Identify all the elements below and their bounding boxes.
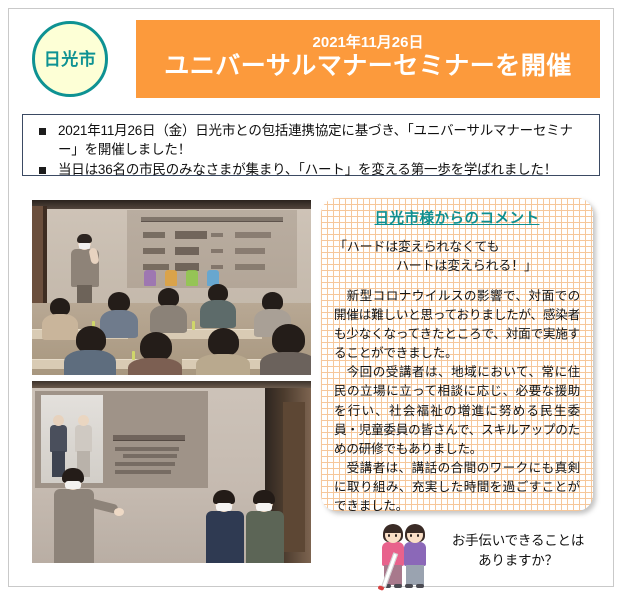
stat-unit <box>211 249 223 253</box>
head <box>78 415 89 426</box>
assistance-caption-line-2: ありますか？ <box>443 551 593 571</box>
face-mask-icon <box>216 503 232 511</box>
stat-unit <box>211 265 223 269</box>
audience-member <box>128 358 182 375</box>
audience-member <box>196 354 250 375</box>
elderly-pictogram-icon <box>165 270 177 286</box>
water-bottle <box>192 321 195 330</box>
ceiling-band <box>32 200 311 209</box>
stat-label <box>143 232 165 238</box>
hair-fringe <box>406 525 424 533</box>
comment-quote-line-1: 「ハードは変えられなくても <box>334 239 499 254</box>
attendee-hair <box>213 490 235 504</box>
assistance-illustration <box>380 518 438 588</box>
eye <box>410 534 412 537</box>
summary-bullet-text: 2021年11月26日（金）日光市との包括連携協定に基づき、「ユニバーサルマナー… <box>58 122 589 159</box>
face-mask-icon <box>65 481 81 489</box>
audience-member <box>200 300 236 328</box>
audience-member <box>100 310 138 338</box>
slide-point-line <box>123 454 177 458</box>
stat-unit <box>211 233 223 237</box>
figure-helper <box>402 524 428 588</box>
stat-value <box>175 247 199 255</box>
comment-paragraph: 受講者は、講話の合間のワークにも真剣に取り組み、充実した時間を過ごすことができま… <box>334 459 580 511</box>
audience-member <box>260 352 311 375</box>
eye <box>388 534 390 537</box>
shoe <box>416 584 424 588</box>
comment-body: 新型コロナウイルスの影響で、対面での開催は難しいと思っておりましたが、感染者も少… <box>334 287 580 511</box>
audience-member <box>42 314 78 340</box>
comment-paragraph: 今回の受講者は、地域において、常に住民の立場に立って相談に応じ、必要な援助を行い… <box>334 363 580 459</box>
face-mask-icon <box>256 503 272 511</box>
comment-paragraph: 新型コロナウイルスの影響で、対面での開催は難しいと思っておりましたが、感染者も少… <box>334 287 580 364</box>
audience-member <box>76 326 106 353</box>
presenter-figure <box>70 236 100 308</box>
slide-person-guide <box>49 415 68 477</box>
assistance-caption-line-1: お手伝いできることは <box>443 531 593 551</box>
document-page: 日光市 2021年11月26日 ユニバーサルマナーセミナーを開催 2021年11… <box>0 0 622 595</box>
event-date: 2021年11月26日 <box>313 35 424 52</box>
speaker-hand <box>114 508 124 516</box>
audience-member <box>64 350 116 375</box>
slide-point-line <box>115 462 175 466</box>
slide-point-line <box>115 470 171 474</box>
audience-member <box>208 328 239 356</box>
eye <box>395 534 397 537</box>
attendee-figure <box>244 493 286 563</box>
torso <box>75 425 92 452</box>
list-item: 2021年11月26日（金）日光市との包括連携協定に基づき、「ユニバーサルマナー… <box>33 122 589 159</box>
cane-tip <box>377 585 384 591</box>
summary-box: 2021年11月26日（金）日光市との包括連携協定に基づき、「ユニバーサルマナー… <box>22 114 600 176</box>
audience-member <box>150 305 187 333</box>
title-bar: 2021年11月26日 ユニバーサルマナーセミナーを開催 <box>136 20 600 98</box>
torso <box>50 425 67 452</box>
comment-quote: 「ハードは変えられなくても ハートは変えられる！」 <box>334 238 580 276</box>
comment-panel-title: 日光市様からのコメント <box>334 207 580 228</box>
eye <box>417 534 419 537</box>
hair-fringe <box>384 525 402 533</box>
page-title: ユニバーサルマナーセミナーを開催 <box>164 52 572 81</box>
torso <box>404 542 426 566</box>
head <box>53 415 64 426</box>
list-item: 当日は36名の市民のみなさまが集まり、「ハート」を変える第一歩を学ばれました！ <box>33 161 589 180</box>
city-badge: 日光市 <box>32 21 108 97</box>
trousers <box>406 565 424 585</box>
audience-member <box>140 332 172 361</box>
shoe <box>405 584 413 588</box>
comment-panel: 日光市様からのコメント 「ハードは変えられなくても ハートは変えられる！」 新型… <box>321 198 593 511</box>
stat-share <box>235 264 265 270</box>
audience-member <box>272 324 305 354</box>
stat-label <box>143 248 165 254</box>
comment-quote-line-2: ハートは変えられる！」 <box>334 257 580 276</box>
assistance-caption: お手伝いできることは ありますか？ <box>443 531 593 572</box>
wheelchair-pictogram-icon <box>144 270 156 286</box>
attendee-figure <box>204 493 246 563</box>
city-badge-label: 日光市 <box>44 51 97 68</box>
square-bullet-icon <box>39 167 46 174</box>
speaker-figure <box>50 471 102 563</box>
ceiling-band <box>32 381 311 388</box>
water-bottle <box>132 351 135 360</box>
slide-point-line <box>115 447 179 451</box>
attendee-body <box>246 511 284 563</box>
page-header: 日光市 2021年11月26日 ユニバーサルマナーセミナーを開催 <box>18 16 606 100</box>
summary-bullet-text: 当日は36名の市民のみなさまが集まり、「ハート」を変える第一歩を学ばれました！ <box>58 161 589 180</box>
photo-presenter-demo <box>32 381 311 563</box>
presenter-hair <box>77 234 92 243</box>
stat-value <box>175 231 207 239</box>
photo-seminar-audience <box>32 200 311 375</box>
child-pictogram-icon <box>186 270 198 286</box>
stat-share <box>235 248 265 254</box>
attendee-body <box>206 511 244 563</box>
shoe <box>394 584 402 588</box>
slide-title-bar <box>141 217 283 222</box>
slide-pictogram-row <box>144 270 219 286</box>
square-bullet-icon <box>39 128 46 135</box>
slide-stat-row <box>143 248 281 254</box>
door-panel <box>283 402 305 552</box>
slide-stat-row <box>143 232 281 238</box>
stat-share <box>235 232 271 238</box>
face-mask-icon <box>79 243 90 249</box>
audience-member <box>108 292 130 312</box>
slide-title-bar <box>113 435 185 441</box>
attendee-hair <box>253 490 275 504</box>
